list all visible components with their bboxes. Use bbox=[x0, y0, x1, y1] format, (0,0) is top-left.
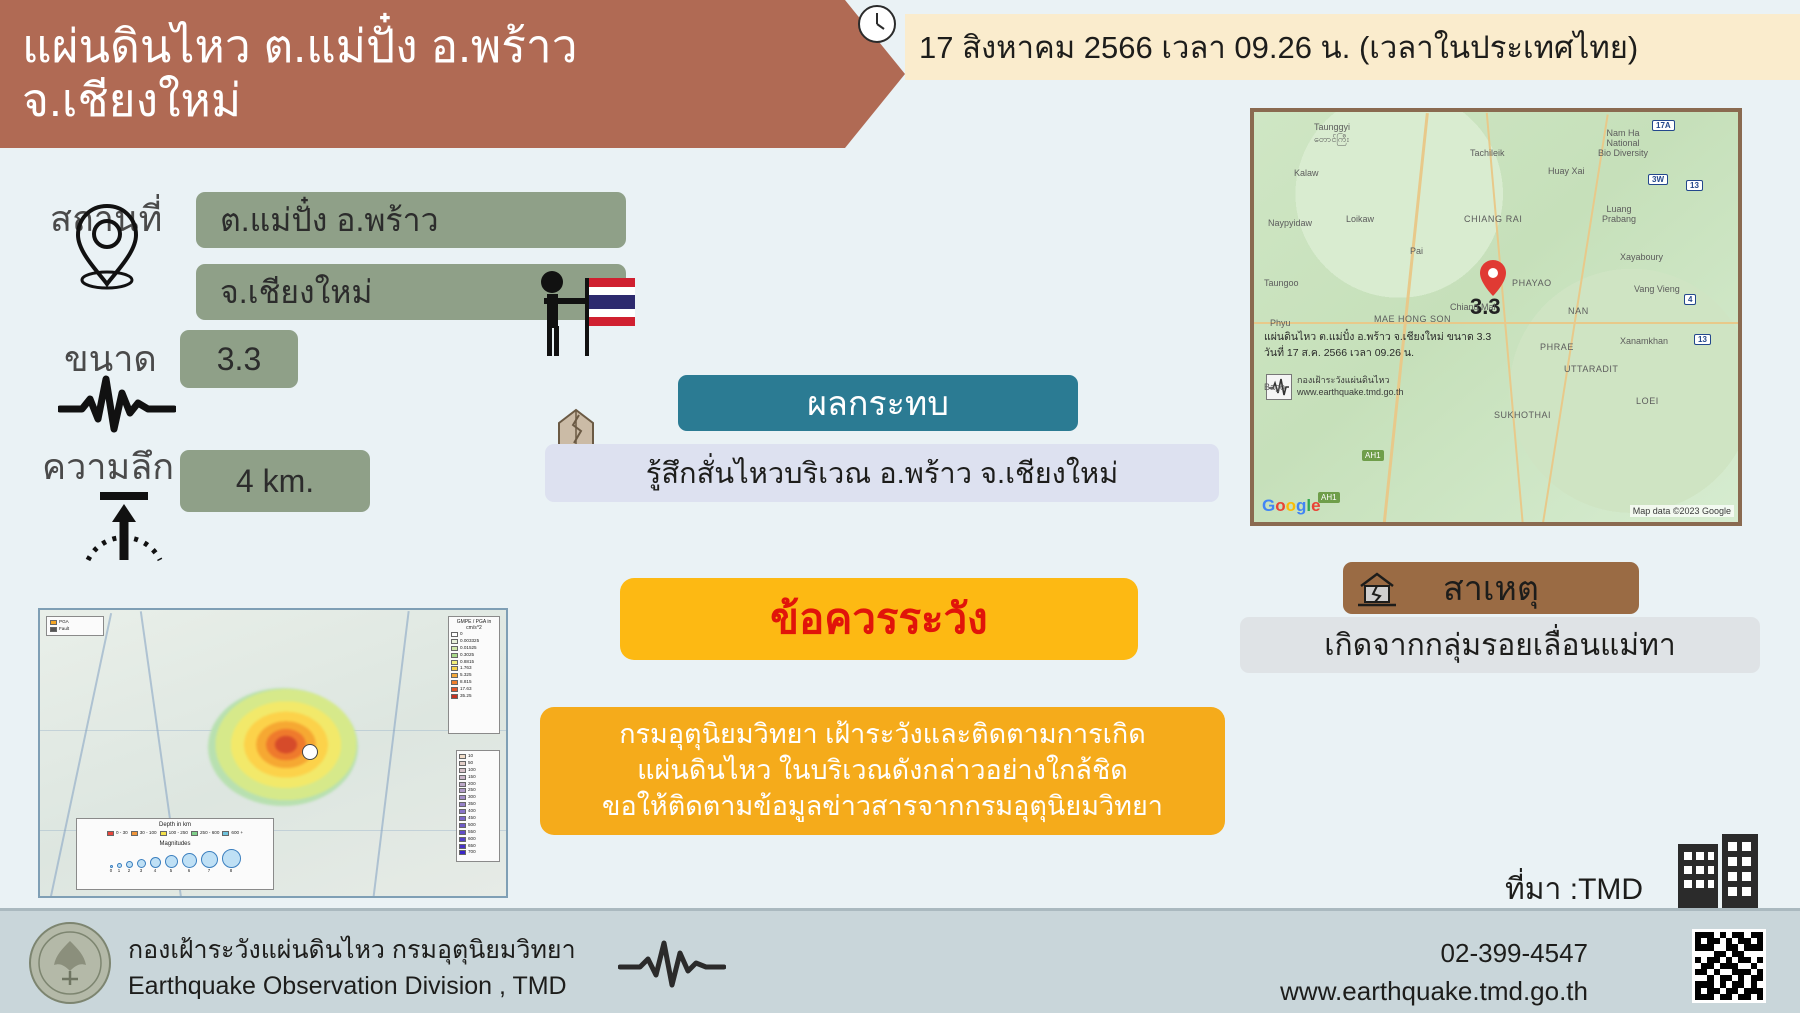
depth-bin-item: 100 - 250 bbox=[160, 830, 188, 837]
map-route-badge: AH1 bbox=[1362, 450, 1384, 461]
depth-bin-item: 30 - 100 bbox=[131, 830, 157, 837]
page-title-line2: จ.เชียงใหม่ bbox=[22, 74, 905, 128]
map-logo-line2: www.earthquake.tmd.go.th bbox=[1297, 387, 1404, 399]
magnitude-items: 012345678 bbox=[80, 849, 270, 873]
google-logo: Google bbox=[1262, 496, 1321, 516]
pga-legend-item: 5.325 bbox=[451, 672, 497, 679]
depth-scale-item: 700 bbox=[459, 849, 497, 856]
magnitude-item: 7 bbox=[201, 851, 218, 873]
depth-scale-item: 400 bbox=[459, 808, 497, 815]
depth-bin-item: 600 + bbox=[222, 830, 243, 837]
map-place-label: Phyu bbox=[1270, 318, 1291, 328]
shakemap-pga-legend: GMPE / PGA in cm/s^2 00.0033250.015250.3… bbox=[448, 616, 500, 734]
footer: กองเฝ้าระวังแผ่นดินไหว กรมอุตุนิยมวิทยา … bbox=[0, 908, 1800, 1013]
map-place-label: Nam HaNationalBio Diversity bbox=[1598, 128, 1648, 158]
qr-code-icon[interactable] bbox=[1692, 929, 1766, 1003]
shakemap-intensity-contours bbox=[208, 688, 358, 806]
map-place-label: တောင်ကြီး bbox=[1314, 134, 1349, 147]
infographic-root: แผ่นดินไหว ต.แม่ปั๋ง อ.พร้าว จ.เชียงใหม่… bbox=[0, 0, 1800, 1013]
map-caption-line1: แผ่นดินไหว ต.แม่ปั๋ง อ.พร้าว จ.เชียงใหม่… bbox=[1264, 330, 1491, 346]
map-place-label: PHRAE bbox=[1540, 342, 1574, 352]
depth-scale-item: 550 bbox=[459, 829, 497, 836]
shakemap-layer-fault: Fault bbox=[50, 626, 100, 633]
map-place-label: CHIANG RAI bbox=[1464, 214, 1523, 224]
fault-line-house-icon bbox=[1355, 566, 1399, 610]
impact-header: ผลกระทบ bbox=[678, 375, 1078, 431]
map-place-label: Chiang Mai bbox=[1450, 302, 1496, 312]
map-place-label: LOEI bbox=[1636, 396, 1659, 406]
depth-scale-item: 300 bbox=[459, 794, 497, 801]
shakemap-layer-legend: PGA Fault bbox=[46, 616, 104, 636]
shakemap-pga-legend-items: 00.0033250.015250.30250.88151.7635.3258.… bbox=[451, 631, 497, 700]
shakemap-depth-scale-items: 1050100150200250300350400450500550600650… bbox=[459, 753, 497, 856]
warning-body-line2: แผ่นดินไหว ในบริเวณดังกล่าวอย่างใกล้ชิด bbox=[637, 753, 1128, 789]
damaged-house-icon bbox=[555, 405, 597, 447]
depth-scale-item: 650 bbox=[459, 843, 497, 850]
depth-scale-item: 50 bbox=[459, 760, 497, 767]
depth-value: 4 km. bbox=[180, 450, 370, 512]
map-place-label: Vang Vieng bbox=[1634, 284, 1680, 294]
map-place-label: Kalaw bbox=[1294, 168, 1319, 178]
footer-organization: กองเฝ้าระวังแผ่นดินไหว กรมอุตุนิยมวิทยา … bbox=[128, 933, 576, 1004]
warning-body-line1: กรมอุตุนิยมวิทยา เฝ้าระวังและติดตามการเก… bbox=[619, 717, 1146, 753]
seismic-wave-icon bbox=[618, 937, 726, 991]
depth-label: ความลึก bbox=[42, 438, 174, 495]
magnitude-item: 1 bbox=[117, 863, 122, 873]
map-place-label: Xanamkhan bbox=[1620, 336, 1668, 346]
magnitude-item: 8 bbox=[222, 849, 241, 873]
footer-org-thai: กองเฝ้าระวังแผ่นดินไหว กรมอุตุนิยมวิทยา bbox=[128, 933, 576, 969]
map-place-label: Taunggyi bbox=[1314, 122, 1350, 132]
map-place-label: Xayaboury bbox=[1620, 252, 1663, 262]
map-place-label: Huay Xai bbox=[1548, 166, 1585, 176]
datetime-text: 17 สิงหาคม 2566 เวลา 09.26 น. (เวลาในประ… bbox=[919, 22, 1638, 72]
cause-body: เกิดจากกลุ่มรอยเลื่อนแม่ทา bbox=[1240, 617, 1760, 673]
depth-scale-item: 200 bbox=[459, 781, 497, 788]
tmd-garuda-seal-icon bbox=[28, 921, 112, 1005]
map-route-shield: 13 bbox=[1686, 180, 1703, 191]
datetime-banner: 17 สิงหาคม 2566 เวลา 09.26 น. (เวลาในประ… bbox=[905, 14, 1800, 80]
depth-legend-title: Depth in km bbox=[80, 822, 270, 828]
location-value-line1: ต.แม่ปั๋ง อ.พร้าว bbox=[196, 192, 626, 248]
pga-legend-item: 0.003325 bbox=[451, 638, 497, 645]
shake-intensity-map[interactable]: PGA Fault GMPE / PGA in cm/s^2 00.003325… bbox=[38, 608, 508, 898]
map-road bbox=[1254, 322, 1742, 324]
pga-legend-item: 0 bbox=[451, 631, 497, 638]
magnitude-item: 5 bbox=[165, 855, 178, 873]
impact-body: รู้สึกสั่นไหวบริเวณ อ.พร้าว จ.เชียงใหม่ bbox=[545, 444, 1219, 502]
map-place-label: Naypyidaw bbox=[1268, 218, 1312, 228]
pga-legend-item: 0.8815 bbox=[451, 659, 497, 666]
map-caption-line2: วันที่ 17 ส.ค. 2566 เวลา 09.26 น. bbox=[1264, 346, 1491, 362]
warning-body-line3: ขอให้ติดตามข้อมูลข่าวสารจากกรมอุตุนิยมวิ… bbox=[602, 789, 1163, 825]
warning-header: ข้อควรระวัง bbox=[620, 578, 1138, 660]
pga-legend-item: 0.01525 bbox=[451, 645, 497, 652]
map-place-label: PHAYAO bbox=[1512, 278, 1552, 288]
depth-scale-item: 500 bbox=[459, 822, 497, 829]
map-place-label: UTTARADIT bbox=[1564, 364, 1618, 374]
shakemap-pga-legend-title: GMPE / PGA in cm/s^2 bbox=[451, 619, 497, 631]
map-route-shield: 13 bbox=[1694, 334, 1711, 345]
map-route-shield: 3W bbox=[1648, 174, 1668, 185]
magnitude-item: 6 bbox=[182, 853, 197, 873]
building-icon bbox=[1672, 830, 1764, 910]
map-attribution: Map data ©2023 Google bbox=[1630, 505, 1734, 517]
map-epicenter-marker-icon[interactable] bbox=[1480, 260, 1506, 296]
depth-bin-item: 0 - 30 bbox=[107, 830, 128, 837]
depth-bin-items: 0 - 3030 - 100100 - 250250 - 600600 + bbox=[80, 830, 270, 837]
map-caption: แผ่นดินไหว ต.แม่ปั๋ง อ.พร้าว จ.เชียงใหม่… bbox=[1264, 330, 1491, 362]
depth-scale-item: 450 bbox=[459, 815, 497, 822]
map-place-label: Bago bbox=[1264, 382, 1285, 392]
magnitude-item: 0 bbox=[110, 865, 113, 873]
depth-arrow-icon bbox=[78, 490, 170, 568]
shakemap-epicenter-marker bbox=[302, 744, 318, 760]
pga-legend-item: 17.63 bbox=[451, 686, 497, 693]
person-with-thai-flag-icon bbox=[530, 268, 640, 358]
magnitude-item: 3 bbox=[137, 859, 146, 873]
depth-bin-item: 250 - 600 bbox=[191, 830, 219, 837]
header-banner: แผ่นดินไหว ต.แม่ปั๋ง อ.พร้าว จ.เชียงใหม่ bbox=[0, 0, 905, 148]
map-place-label: SUKHOTHAI bbox=[1494, 410, 1551, 420]
map-place-label: Tachileik bbox=[1470, 148, 1505, 158]
shakemap-depth-magnitude-legend: Depth in km 0 - 3030 - 100100 - 250250 -… bbox=[76, 818, 274, 890]
depth-scale-item: 250 bbox=[459, 787, 497, 794]
pga-legend-item: 35.25 bbox=[451, 693, 497, 700]
pga-legend-item: 1.763 bbox=[451, 665, 497, 672]
warning-body: กรมอุตุนิยมวิทยา เฝ้าระวังและติดตามการเก… bbox=[540, 707, 1225, 835]
map-place-label: Loikaw bbox=[1346, 214, 1374, 224]
footer-org-english: Earthquake Observation Division , TMD bbox=[128, 969, 576, 1005]
map-logo-line1: กองเฝ้าระวังแผ่นดินไหว bbox=[1297, 375, 1404, 387]
map-tmd-logo: กองเฝ้าระวังแผ่นดินไหว www.earthquake.tm… bbox=[1266, 374, 1404, 400]
map-pin-icon bbox=[68, 200, 146, 292]
map-route-shield: 4 bbox=[1684, 294, 1696, 305]
clock-icon bbox=[855, 2, 899, 46]
depth-scale-item: 350 bbox=[459, 801, 497, 808]
map-route-shield: 17A bbox=[1652, 120, 1675, 131]
seismograph-wave-icon bbox=[58, 375, 176, 433]
magnitude-legend-title: Magnitudes bbox=[80, 841, 270, 847]
location-map[interactable]: 17A 13 3W 4 13 AH1 AH1 3.3 แผ่นดินไหว ต.… bbox=[1250, 108, 1742, 526]
shakemap-depth-scale: 1050100150200250300350400450500550600650… bbox=[456, 750, 500, 862]
map-logo-text: กองเฝ้าระวังแผ่นดินไหว www.earthquake.tm… bbox=[1297, 375, 1404, 398]
footer-phone: 02-399-4547 bbox=[1280, 935, 1588, 973]
shakemap-layer-pga: PGA bbox=[50, 619, 100, 626]
page-title-line1: แผ่นดินไหว ต.แม่ปั๋ง อ.พร้าว bbox=[22, 20, 905, 74]
magnitude-item: 2 bbox=[126, 861, 133, 873]
map-route-badge: AH1 bbox=[1318, 492, 1340, 503]
pga-legend-item: 0.3025 bbox=[451, 652, 497, 659]
map-place-label: MAE HONG SON bbox=[1374, 314, 1451, 324]
map-place-label: LuangPrabang bbox=[1602, 204, 1636, 224]
depth-scale-item: 10 bbox=[459, 753, 497, 760]
depth-scale-item: 100 bbox=[459, 767, 497, 774]
source-label: ที่มา :TMD bbox=[1505, 866, 1643, 913]
magnitude-item: 4 bbox=[150, 857, 161, 873]
pga-legend-item: 8.815 bbox=[451, 679, 497, 686]
depth-scale-item: 600 bbox=[459, 836, 497, 843]
depth-scale-item: 150 bbox=[459, 774, 497, 781]
magnitude-value: 3.3 bbox=[180, 330, 298, 388]
footer-contact: 02-399-4547 www.earthquake.tmd.go.th bbox=[1280, 935, 1588, 1010]
map-place-label: NAN bbox=[1568, 306, 1589, 316]
map-place-label: Pai bbox=[1410, 246, 1423, 256]
footer-website[interactable]: www.earthquake.tmd.go.th bbox=[1280, 973, 1588, 1011]
map-place-label: Taungoo bbox=[1264, 278, 1299, 288]
